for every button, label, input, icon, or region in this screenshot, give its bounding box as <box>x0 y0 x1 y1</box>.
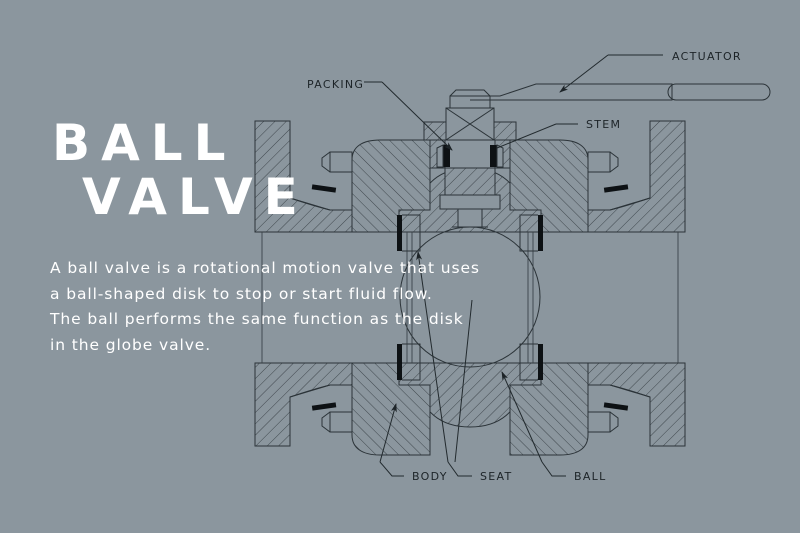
description-line-3: The ball performs the same function as t… <box>50 307 500 333</box>
title-line-one: BALL <box>52 116 472 170</box>
callout-label-seat: SEAT <box>480 470 513 483</box>
description-line-1: A ball valve is a rotational motion valv… <box>50 256 500 282</box>
title-line-two: VALVE <box>82 170 472 224</box>
actuator-handle <box>470 84 770 100</box>
callout-label-ball: BALL <box>574 470 607 483</box>
callout-label-stem: STEM <box>586 118 621 131</box>
callout-label-actuator: ACTUATOR <box>672 50 742 63</box>
description-line-4: in the globe valve. <box>50 333 500 359</box>
page-title: BALL VALVE <box>52 116 472 224</box>
description-paragraph: A ball valve is a rotational motion valv… <box>50 256 500 358</box>
description-line-2: a ball-shaped disk to stop or start flui… <box>50 282 500 308</box>
diagram-stage: PACKING ACTUATOR STEM BODY SEAT BALL BAL… <box>0 0 800 533</box>
callout-label-packing: PACKING <box>307 78 364 91</box>
callout-label-body: BODY <box>412 470 448 483</box>
